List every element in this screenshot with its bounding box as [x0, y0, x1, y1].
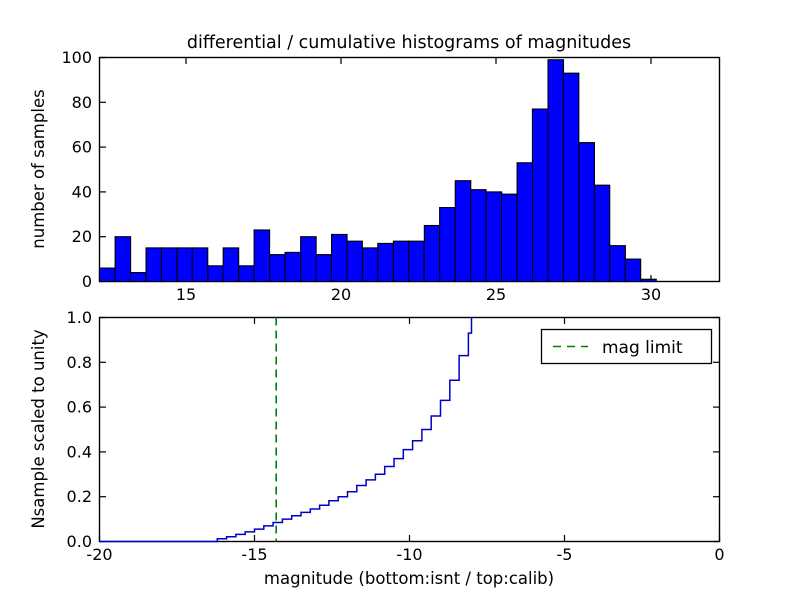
histogram-bar: [424, 226, 439, 282]
top-ytick-20: 20: [72, 227, 92, 246]
histogram-bar: [378, 243, 393, 281]
top-ytick-100: 100: [61, 48, 92, 67]
histogram-bar: [532, 109, 547, 281]
legend-maglimit-label: mag limit: [602, 338, 683, 358]
bottom-xtick-m10: -10: [396, 545, 422, 564]
top-ytick-80: 80: [72, 93, 92, 112]
histogram-bar: [641, 279, 656, 281]
histogram-bar: [486, 192, 501, 282]
histogram-bar: [192, 248, 207, 282]
histogram-bar: [285, 252, 300, 281]
histogram-bar: [548, 60, 563, 282]
histogram-bar: [362, 248, 377, 282]
histogram-bar: [115, 237, 130, 282]
histogram-bar: [594, 185, 609, 281]
histogram-bar: [625, 259, 640, 281]
figure-canvas: differential / cumulative histograms of …: [0, 0, 800, 600]
bottom-ytick-02: 0.2: [67, 487, 92, 506]
bottom-ytick-04: 0.4: [67, 442, 92, 461]
top-xtick-30: 30: [641, 285, 661, 304]
top-ytick-60: 60: [72, 138, 92, 157]
histogram-bar: [239, 266, 254, 282]
histogram-bar: [161, 248, 176, 282]
histogram-bar: [177, 248, 192, 282]
histogram-bar: [409, 241, 424, 281]
histogram-bar: [610, 246, 625, 282]
bottom-xtick-0: 0: [714, 545, 724, 564]
histogram-bar: [563, 73, 578, 281]
histogram-bar: [254, 230, 269, 282]
top-ytick-40: 40: [72, 182, 92, 201]
histogram-bar: [208, 266, 223, 282]
histogram-bar: [501, 194, 516, 281]
x-axis-label: magnitude (bottom:isnt / top:calib): [264, 569, 554, 588]
bottom-ytick-08: 0.8: [67, 353, 92, 372]
top-ylabel: number of samples: [29, 89, 48, 248]
figure-background: [0, 0, 800, 600]
histogram-bar: [316, 255, 331, 282]
histogram-bar: [130, 273, 145, 282]
histogram-bar: [146, 248, 161, 282]
histogram-bar: [579, 143, 594, 282]
bottom-xtick-m20: -20: [86, 545, 112, 564]
histogram-bar: [455, 181, 470, 282]
legend[interactable]: mag limit: [542, 330, 712, 364]
bottom-ytick-1: 1.0: [67, 308, 92, 327]
histogram-bar: [223, 248, 238, 282]
histogram-bar: [100, 268, 115, 281]
bottom-ylabel: Nsample scaled to unity: [29, 329, 48, 529]
histogram-bar: [332, 234, 347, 281]
bottom-xtick-m5: -5: [557, 545, 573, 564]
histogram-bar: [471, 190, 486, 282]
top-xtick-25: 25: [486, 285, 506, 304]
histogram-bar: [393, 241, 408, 281]
histogram-bar: [517, 163, 532, 282]
histogram-bar: [347, 241, 362, 281]
histogram-bar: [440, 208, 455, 282]
histogram-bar: [270, 255, 285, 282]
bottom-xtick-m15: -15: [241, 545, 267, 564]
bottom-ytick-06: 0.6: [67, 398, 92, 417]
top-ytick-0: 0: [82, 272, 92, 291]
top-xtick-20: 20: [331, 285, 351, 304]
top-xtick-15: 15: [176, 285, 196, 304]
histogram-bar: [301, 237, 316, 282]
chart-title: differential / cumulative histograms of …: [187, 33, 631, 53]
